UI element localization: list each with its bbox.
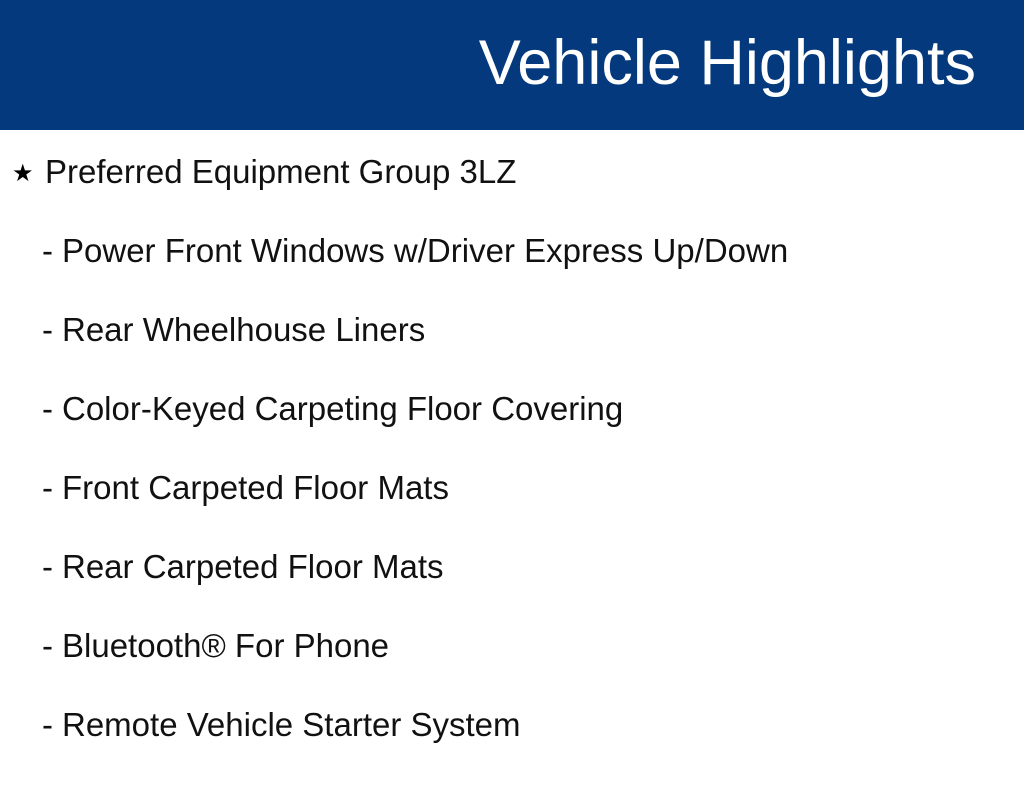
- list-item: - Rear Wheelhouse Liners: [42, 313, 788, 392]
- list-item: - Front Carpeted Floor Mats: [42, 471, 788, 550]
- dash-marker: -: [42, 392, 62, 425]
- vehicle-highlights-slide: Vehicle Highlights ★ Preferred Equipment…: [0, 0, 1024, 768]
- highlight-sub-list: - Power Front Windows w/Driver Express U…: [42, 234, 788, 787]
- list-item-label: Rear Wheelhouse Liners: [62, 313, 425, 346]
- list-item: - Power Front Windows w/Driver Express U…: [42, 234, 788, 313]
- list-item: - Remote Vehicle Starter System: [42, 708, 788, 787]
- list-item: - Color-Keyed Carpeting Floor Covering: [42, 392, 788, 471]
- list-item-label: Power Front Windows w/Driver Express Up/…: [62, 234, 788, 267]
- highlight-primary-bullet: ★ Preferred Equipment Group 3LZ: [12, 155, 516, 188]
- dash-marker: -: [42, 234, 62, 267]
- list-item-label: Remote Vehicle Starter System: [62, 708, 521, 741]
- star-bullet-icon: ★: [12, 162, 45, 186]
- highlight-primary-label: Preferred Equipment Group 3LZ: [45, 155, 516, 188]
- dash-marker: -: [42, 471, 62, 504]
- list-item-label: Bluetooth® For Phone: [62, 629, 389, 662]
- list-item-label: Front Carpeted Floor Mats: [62, 471, 449, 504]
- list-item-label: Color-Keyed Carpeting Floor Covering: [62, 392, 623, 425]
- dash-marker: -: [42, 550, 62, 583]
- header-banner: Vehicle Highlights: [0, 0, 1024, 130]
- dash-marker: -: [42, 313, 62, 346]
- list-item: - Rear Carpeted Floor Mats: [42, 550, 788, 629]
- dash-marker: -: [42, 629, 62, 662]
- page-title: Vehicle Highlights: [479, 32, 976, 95]
- highlights-content: ★ Preferred Equipment Group 3LZ - Power …: [0, 130, 1024, 768]
- dash-marker: -: [42, 708, 62, 741]
- list-item: - Bluetooth® For Phone: [42, 629, 788, 708]
- list-item-label: Rear Carpeted Floor Mats: [62, 550, 443, 583]
